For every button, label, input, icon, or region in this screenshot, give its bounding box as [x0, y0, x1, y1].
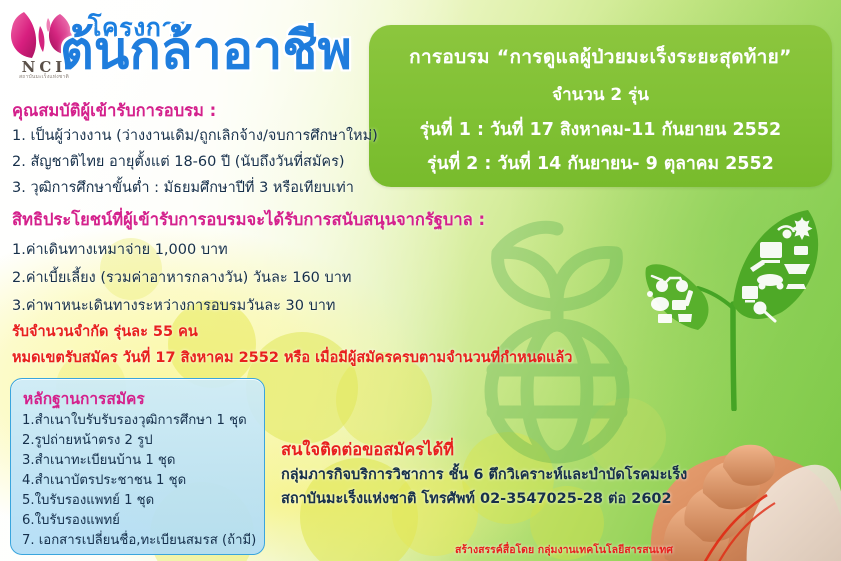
- announcement-title: การอบรม “การดูแลผู้ป่วยมะเร็งระยะสุดท้าย…: [369, 42, 832, 72]
- benefits-item: 3.ค่าพาหนะเดินทางระหว่างการอบรมวันละ 30 …: [12, 294, 335, 317]
- benefits-item: 2.ค่าเบี้ยเลี้ยง (รวมค่าอาหารกลางวัน) วั…: [12, 266, 351, 289]
- capacity-notice: รับจำนวนจำกัด รุ่นละ 55 คน: [12, 320, 198, 343]
- contact-address-line-2: สถาบันมะเร็งแห่งชาติ โทรศัพท์ 02-3547025…: [281, 487, 672, 510]
- documents-item: 4.สำเนาบัตรประชาชน 1 ชุด: [22, 469, 186, 490]
- contact-heading: สนใจติดต่อขอสมัครได้ที่: [281, 437, 454, 463]
- announcement-batch-2: รุ่นที่ 2 : วันที่ 14 กันยายน- 9 ตุลาคม …: [369, 149, 832, 177]
- benefits-item: 1.ค่าเดินทางเหมาจ่าย 1,000 บาท: [12, 238, 228, 261]
- qualifications-item: 2. สัญชาติไทย อายุตั้งแต่ 18-60 ปี (นับถ…: [12, 150, 345, 173]
- deadline-notice: หมดเขตรับสมัคร วันที่ 17 สิงหาคม 2552 หร…: [12, 346, 572, 369]
- credit-line: สร้างสรรค์สื่อโดย กลุ่มงานเทคโนโลยีสารสน…: [455, 541, 673, 558]
- page-title: ต้นกล้าอาชีพ: [60, 25, 352, 77]
- contact-address-line-1: กลุ่มภารกิจบริการวิชาการ ชั้น 6 ตึกวิเคร…: [281, 463, 687, 486]
- announcement-batch-1: รุ่นที่ 1 : วันที่ 17 สิงหาคม-11 กันยายน…: [369, 115, 832, 143]
- documents-item: 5.ใบรับรองแพทย์ 1 ชุด: [22, 489, 154, 510]
- sprout-with-career-icons: [612, 196, 841, 411]
- documents-item: 6.ใบรับรองแพทย์: [22, 509, 120, 530]
- qualifications-heading: คุณสมบัติผู้เข้ารับการอบรม :: [12, 98, 216, 124]
- documents-item: 7. เอกสารเปลี่ยนชื่อ,ทะเบียนสมรส (ถ้ามี): [22, 529, 256, 550]
- qualifications-item: 1. เป็นผู้ว่างงาน (ว่างงานเดิม/ถูกเลิกจ้…: [12, 124, 378, 147]
- announcement-box: การอบรม “การดูแลผู้ป่วยมะเร็งระยะสุดท้าย…: [369, 25, 832, 187]
- documents-item: 1.สำเนาใบรับรับรองวุฒิการศึกษา 1 ชุด: [22, 409, 247, 430]
- poster-canvas: NCI สถาบันมะเร็งแห่งชาติ โครงการ ต้นกล้า…: [0, 0, 841, 561]
- qualifications-item: 3. วุฒิการศึกษาขั้นต่ำ : มัธยมศึกษาปีที่…: [12, 176, 354, 199]
- documents-heading: หลักฐานการสมัคร: [23, 386, 145, 411]
- benefits-heading: สิทธิประโยชน์ที่ผู้เข้ารับการอบรมจะได้รั…: [12, 207, 485, 233]
- documents-item: 3.สำเนาทะเบียนบ้าน 1 ชุด: [22, 449, 175, 470]
- globe-sprout-watermark: [432, 205, 682, 465]
- documents-item: 2.รูปถ่ายหน้าตรง 2 รูป: [22, 429, 153, 450]
- announcement-batch-count: จำนวน 2 รุ่น: [369, 81, 832, 108]
- documents-box: หลักฐานการสมัคร 1.สำเนาใบรับรับรองวุฒิกา…: [10, 378, 265, 555]
